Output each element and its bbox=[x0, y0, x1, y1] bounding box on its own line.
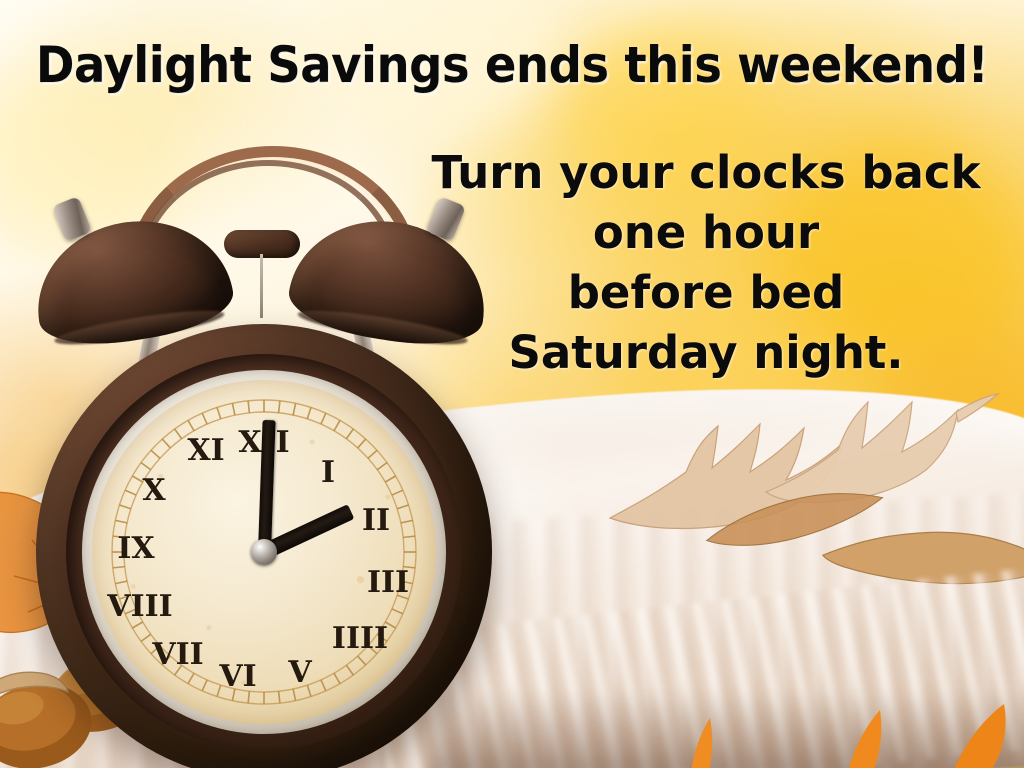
clock-case: XII I I II III IIII V VI VII VIII IX X X… bbox=[36, 324, 492, 768]
bell-striker-stem bbox=[260, 254, 263, 318]
svg-text:VIII: VIII bbox=[106, 589, 172, 624]
page-title: Daylight Savings ends this weekend! bbox=[36, 36, 988, 94]
svg-text:I: I bbox=[358, 380, 388, 398]
svg-text:V: V bbox=[287, 655, 312, 690]
clock-center-pin bbox=[251, 539, 277, 565]
body-line-1: Turn your clocks back bbox=[420, 143, 992, 203]
svg-text:II: II bbox=[362, 503, 390, 538]
svg-text:IX: IX bbox=[117, 531, 155, 566]
svg-text:VII: VII bbox=[151, 637, 203, 672]
body-line-3: before bed bbox=[420, 263, 992, 323]
body-line-4: Saturday night. bbox=[420, 323, 992, 383]
body-copy: Turn your clocks back one hour before be… bbox=[420, 143, 992, 383]
svg-text:I: I bbox=[321, 455, 335, 490]
svg-text:IIII: IIII bbox=[332, 621, 388, 656]
table-shadow bbox=[430, 690, 1024, 768]
daylight-savings-poster: XII I I II III IIII V VI VII VIII IX X X… bbox=[0, 0, 1024, 768]
svg-text:XI: XI bbox=[187, 433, 224, 468]
svg-text:III: III bbox=[367, 565, 409, 600]
body-line-2: one hour bbox=[420, 203, 992, 263]
clock-dial: XII I I II III IIII V VI VII VIII IX X X… bbox=[92, 380, 436, 724]
svg-text:X: X bbox=[142, 473, 166, 508]
svg-text:VI: VI bbox=[218, 659, 256, 694]
